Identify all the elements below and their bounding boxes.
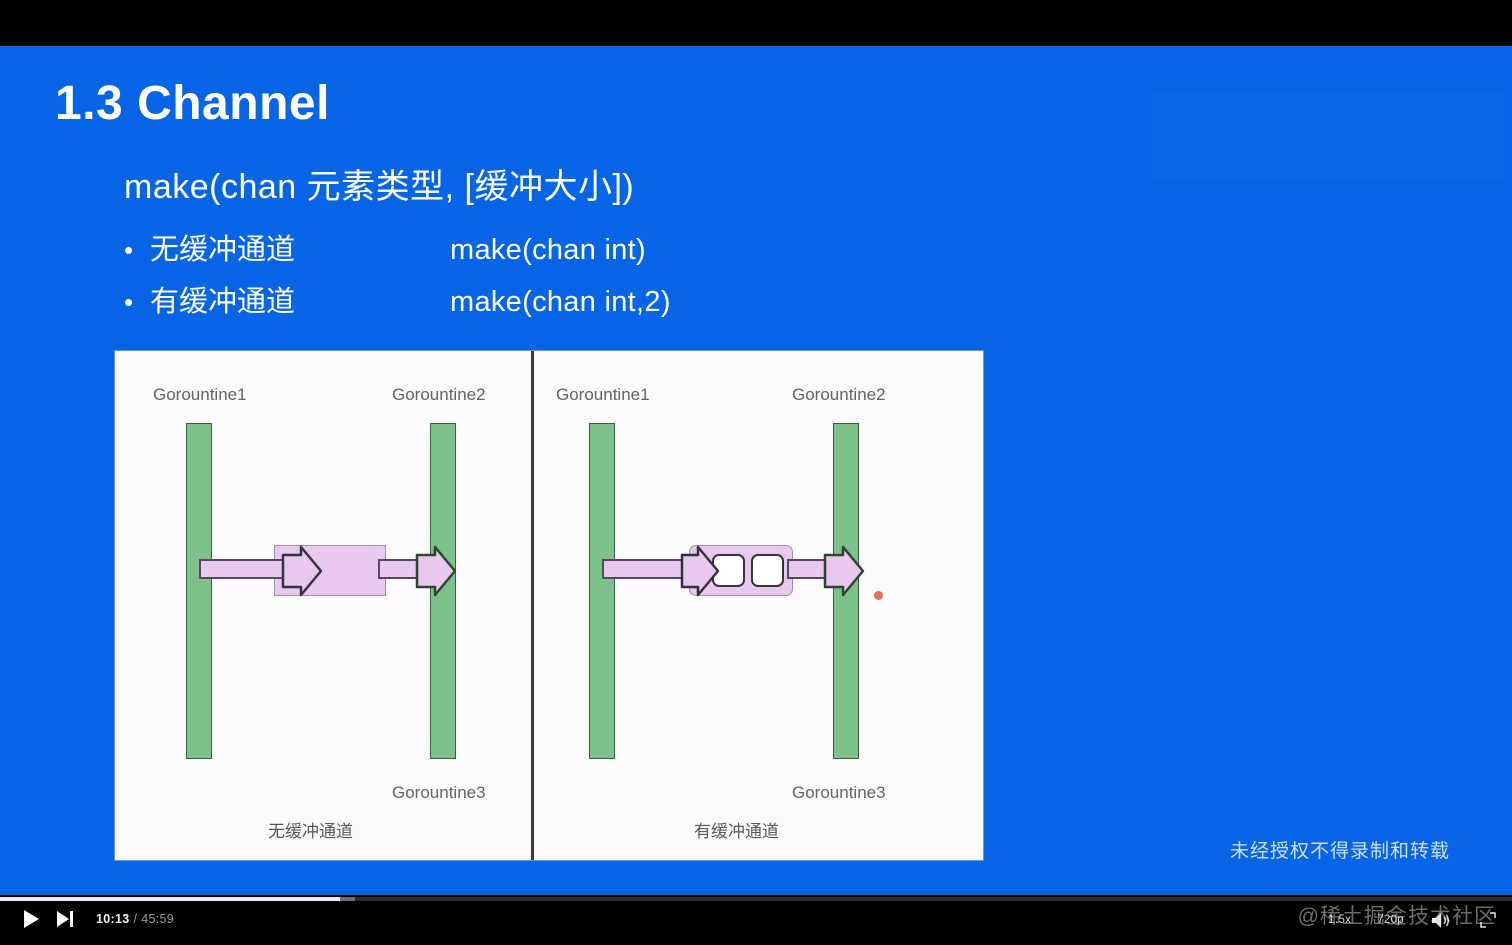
current-time: 10:13 bbox=[96, 912, 129, 926]
time-separator: / bbox=[133, 912, 137, 926]
list-item: • 有缓冲通道 make(chan int,2) bbox=[124, 278, 671, 330]
progress-played bbox=[0, 897, 340, 901]
next-track-icon-glyph bbox=[57, 911, 74, 927]
receive-arrowhead-icon bbox=[415, 545, 457, 597]
list-item: • 无缓冲通道 make(chan int) bbox=[124, 226, 671, 278]
label-goroutine1: Gorountine1 bbox=[556, 385, 650, 405]
cursor-dot bbox=[874, 591, 883, 600]
slide-content: 1.3 Channel make(chan 元素类型, [缓冲大小]) • 无缓… bbox=[0, 46, 1512, 895]
playback-speed-button[interactable]: 1.5x bbox=[1328, 914, 1351, 926]
progress-bar[interactable] bbox=[0, 897, 1512, 901]
buffered-panel: Gorountine1 Gorountine2 bbox=[534, 351, 983, 860]
video-player-page: 1.3 Channel make(chan 元素类型, [缓冲大小]) • 无缓… bbox=[0, 0, 1512, 945]
play-icon[interactable] bbox=[14, 906, 48, 932]
caption-buffered: 有缓冲通道 bbox=[694, 817, 779, 842]
fullscreen-icon[interactable] bbox=[1478, 907, 1498, 933]
unbuffered-panel: Gorountine1 Gorountine2 Gorountine3 bbox=[115, 351, 531, 860]
receive-arrowhead-icon bbox=[823, 545, 865, 597]
bullet-dot-icon: • bbox=[124, 237, 150, 263]
copyright-notice: 未经授权不得录制和转载 bbox=[1230, 836, 1450, 863]
bullet-term: 有缓冲通道 bbox=[150, 278, 450, 320]
bullet-list: • 无缓冲通道 make(chan int) • 有缓冲通道 make(chan… bbox=[124, 226, 671, 330]
send-arrowhead-icon bbox=[281, 545, 323, 597]
total-time: 45:59 bbox=[141, 912, 174, 926]
fullscreen-icon-glyph bbox=[1480, 912, 1496, 928]
channel-diagram: Gorountine1 Gorountine2 Gorountine3 bbox=[115, 351, 983, 860]
buffer-slot bbox=[751, 554, 784, 587]
caption-unbuffered: 无缓冲通道 bbox=[268, 817, 353, 842]
volume-icon[interactable] bbox=[1430, 907, 1452, 933]
time-display: 10:13 / 45:59 bbox=[96, 912, 174, 926]
label-goroutine3: Gorountine3 bbox=[392, 783, 486, 803]
label-goroutine3: Gorountine3 bbox=[792, 783, 886, 803]
quality-button[interactable]: 720p bbox=[1377, 914, 1404, 926]
bullet-code: make(chan int) bbox=[450, 234, 646, 267]
volume-icon-glyph bbox=[1431, 912, 1451, 929]
goroutine1-lifeline bbox=[589, 423, 615, 759]
bullet-dot-icon: • bbox=[124, 289, 150, 315]
player-controls: 10:13 / 45:59 1.5x 720p bbox=[0, 895, 1512, 945]
label-goroutine2: Gorountine2 bbox=[392, 385, 486, 405]
label-goroutine2: Gorountine2 bbox=[792, 385, 886, 405]
label-goroutine1: Gorountine1 bbox=[153, 385, 247, 405]
page-title: 1.3 Channel bbox=[55, 76, 330, 131]
compression-artifact bbox=[1152, 92, 1504, 178]
player-controls-right: 1.5x 720p bbox=[1328, 907, 1498, 933]
bullet-code: make(chan int,2) bbox=[450, 286, 671, 319]
next-track-icon[interactable] bbox=[48, 906, 82, 932]
send-arrowhead-icon bbox=[680, 545, 720, 597]
bullet-term: 无缓冲通道 bbox=[150, 226, 450, 268]
make-signature: make(chan 元素类型, [缓冲大小]) bbox=[124, 159, 634, 208]
goroutine1-lifeline bbox=[186, 423, 212, 759]
play-icon-glyph bbox=[23, 910, 39, 928]
player-controls-left: 10:13 / 45:59 bbox=[14, 906, 174, 932]
